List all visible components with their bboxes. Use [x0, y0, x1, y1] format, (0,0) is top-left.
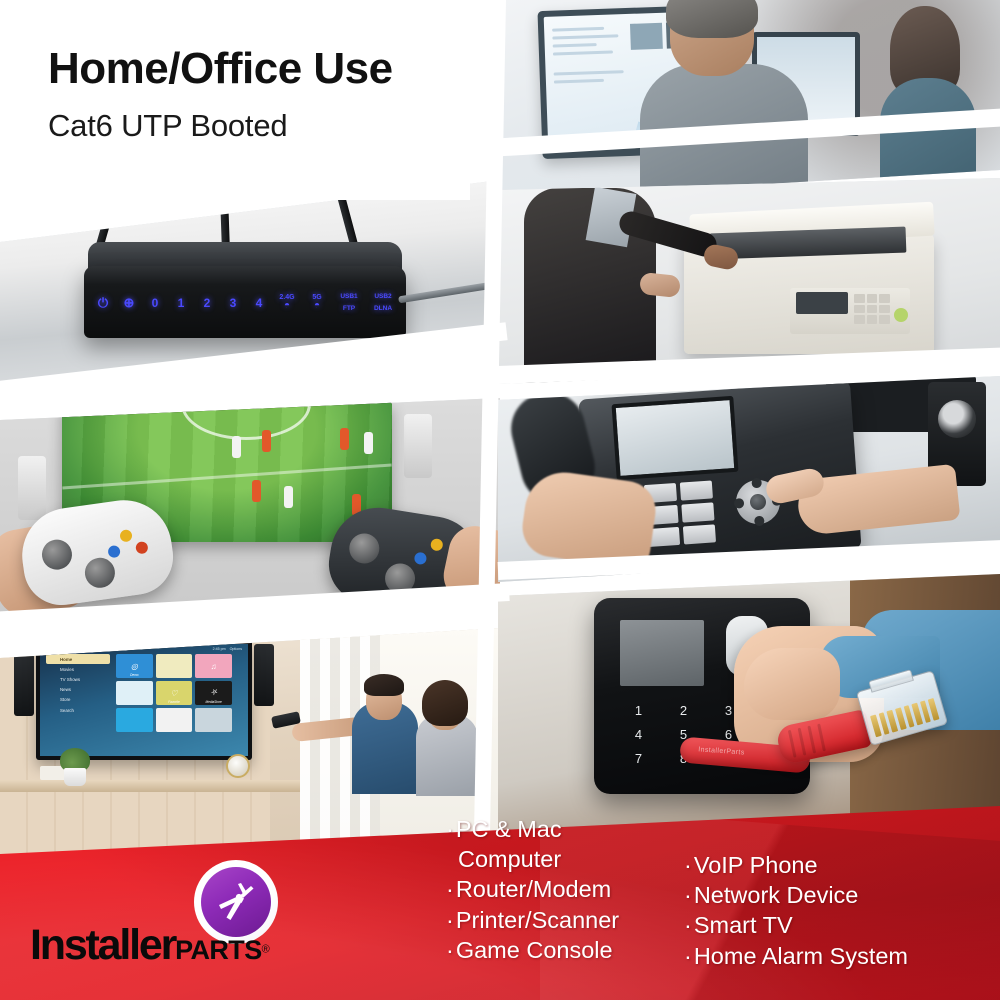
power-icon: ⏻ — [90, 295, 116, 311]
feature-item-continuation: Computer — [446, 844, 678, 874]
feature-label: Router/Modem — [456, 876, 611, 902]
feature-item: ·Network Device — [684, 880, 984, 910]
tv-app-tile[interactable]: ◎ Demo — [116, 654, 153, 678]
soccer-player — [252, 480, 261, 502]
feature-item: ·Printer/Scanner — [446, 905, 678, 935]
logo-wordmark: InstallerPARTS® — [30, 921, 270, 970]
woman-on-couch-hair — [422, 680, 468, 726]
soccer-player — [340, 428, 349, 450]
wifi-icon: ◓ — [284, 300, 290, 311]
tv-menu-item-news[interactable]: News — [46, 685, 110, 695]
alarm-keypad-display — [620, 620, 704, 686]
copier-keypad — [854, 294, 890, 324]
hand-holding-cable — [744, 648, 840, 720]
ftp-label: FTP — [343, 305, 355, 312]
photo-panel-office-computer — [498, 0, 1000, 200]
router-port-4: 4 — [246, 296, 272, 310]
tv-app-tile[interactable]: ⛧ MediaStore — [195, 681, 232, 705]
tv-app-label: MediaStore — [195, 700, 232, 704]
alarm-key-4[interactable]: 4 — [616, 722, 661, 746]
tv-right-speaker — [254, 644, 274, 706]
soccer-player — [284, 486, 293, 508]
tv-menu-item-store[interactable]: Store — [46, 695, 110, 705]
heart-icon: ♡ — [170, 689, 177, 698]
bullet-icon: · — [684, 943, 692, 969]
soccer-player — [232, 436, 241, 458]
router-usb1-ftp: USB1 FTP — [332, 291, 366, 316]
feature-label: VoIP Phone — [694, 852, 818, 878]
film-icon: ◎ — [131, 662, 138, 671]
tv-app-tile[interactable] — [156, 708, 193, 732]
man-on-couch-hair — [364, 674, 404, 696]
feature-label: Home Alarm System — [694, 943, 908, 969]
feature-item: ·Game Console — [446, 935, 678, 965]
tv-app-tile[interactable] — [156, 654, 193, 678]
router-port-3: 3 — [220, 296, 246, 310]
feature-column-left: ·PC & Mac Computer ·Router/Modem ·Printe… — [446, 812, 678, 1000]
tv-menu-list: Home Movies TV Shows News Store Search — [46, 654, 110, 715]
table-clock — [224, 754, 252, 786]
feature-label: Printer/Scanner — [456, 907, 619, 933]
tv-app-tile-grid: ◎ Demo ♫ ♡ Favorite ⛧ MediaStore — [116, 654, 232, 732]
photo-panel-smart-tv: 2:45 pm Options Home Movies TV Shows New… — [0, 628, 500, 868]
page-subtitle: Cat6 UTP Booted — [48, 108, 287, 144]
bullet-icon: · — [684, 852, 692, 878]
tv-app-tile[interactable]: ♫ — [195, 654, 232, 678]
usb1-label: USB1 — [340, 293, 357, 300]
bullet-icon: · — [446, 907, 454, 933]
smart-tv-screen: 2:45 pm Options Home Movies TV Shows New… — [36, 640, 252, 760]
router-port-2: 2 — [194, 296, 220, 310]
music-icon: ♫ — [211, 662, 217, 671]
tv-app-tile[interactable] — [116, 681, 153, 705]
tv-app-label: Demo — [116, 673, 153, 677]
alarm-key-2[interactable]: 2 — [661, 698, 706, 722]
feature-item: ·PC & Mac — [446, 814, 678, 844]
tv-menu-item-home[interactable]: Home — [46, 654, 110, 664]
copier-lcd — [796, 292, 848, 314]
tv-menu-item-search[interactable]: Search — [46, 705, 110, 715]
wifi-5g-indicator: 5G ◓ — [302, 294, 332, 312]
right-speaker — [404, 414, 432, 478]
bullet-icon: · — [446, 937, 454, 963]
registered-trademark-icon: ® — [262, 944, 270, 956]
feature-item: ·Home Alarm System — [684, 941, 984, 971]
router-port-0: 0 — [142, 296, 168, 310]
product-infographic: ⏻ ⊕ 0 1 2 3 4 2.4G ◓ 5G ◓ USB1 FTP USB2 … — [0, 0, 1000, 1000]
potted-plant — [58, 746, 92, 786]
left-speaker — [18, 456, 46, 520]
bullet-icon: · — [684, 882, 692, 908]
logo-brand-primary: Installer — [30, 921, 175, 969]
soccer-player — [262, 430, 271, 452]
dlna-label: DLNA — [374, 305, 392, 312]
tv-menu-item-movies[interactable]: Movies — [46, 664, 110, 674]
tv-app-tile[interactable] — [195, 708, 232, 732]
tv-app-tile[interactable]: ♡ Favorite — [156, 681, 193, 705]
router-usb2-dlna: USB2 DLNA — [366, 291, 400, 316]
tv-app-label: Favorite — [156, 700, 193, 704]
header-block: Home/Office Use Cat6 UTP Booted — [0, 0, 470, 200]
alarm-key-7[interactable]: 7 — [616, 746, 661, 770]
person-at-computer-hair — [666, 0, 758, 38]
tv-status-options: Options — [230, 647, 242, 651]
tv-status-bar: 2:45 pm Options — [213, 647, 242, 651]
feature-label: Network Device — [694, 882, 859, 908]
feature-item: ·Smart TV — [684, 910, 984, 940]
tv-status-time: 2:45 pm — [213, 647, 226, 651]
globe-icon: ⊕ — [116, 295, 142, 311]
brand-logo: InstallerPARTS® — [30, 862, 366, 974]
compatibility-feature-list: ·PC & Mac Computer ·Router/Modem ·Printe… — [446, 812, 994, 1000]
wifi-24g-indicator: 2.4G ◓ — [272, 294, 302, 312]
cart-icon: ⛧ — [210, 688, 216, 698]
alarm-key-1[interactable]: 1 — [616, 698, 661, 722]
feature-item: ·Router/Modem — [446, 874, 678, 904]
soccer-player — [364, 432, 373, 454]
bullet-icon: · — [446, 876, 454, 902]
cable-jacket-print: InstallerParts — [698, 746, 745, 756]
feature-column-right: ·VoIP Phone ·Network Device ·Smart TV ·H… — [684, 812, 984, 1000]
feature-item: ·VoIP Phone — [684, 850, 984, 880]
feature-label: Smart TV — [694, 912, 793, 938]
tv-left-speaker — [14, 654, 34, 716]
logo-brand-secondary: PARTS — [175, 935, 262, 965]
tv-menu-item-tv-shows[interactable]: TV Shows — [46, 674, 110, 684]
usb2-label: USB2 — [374, 293, 391, 300]
smart-tv-home-ui: 2:45 pm Options Home Movies TV Shows New… — [40, 644, 248, 756]
voip-phone-display — [611, 396, 738, 480]
bullet-icon: · — [684, 912, 692, 938]
bullet-icon: · — [446, 816, 454, 842]
page-title: Home/Office Use — [48, 44, 393, 94]
router-port-1: 1 — [168, 296, 194, 310]
wifi-icon: ◓ — [314, 300, 320, 311]
feature-label: Game Console — [456, 937, 613, 963]
tv-app-tile[interactable] — [116, 708, 153, 732]
wall-shelf — [0, 780, 300, 792]
feature-label: PC & Mac — [456, 816, 562, 842]
router-led-panel: ⏻ ⊕ 0 1 2 3 4 2.4G ◓ 5G ◓ USB1 FTP USB2 … — [90, 286, 402, 320]
copier-start-button — [894, 308, 908, 322]
